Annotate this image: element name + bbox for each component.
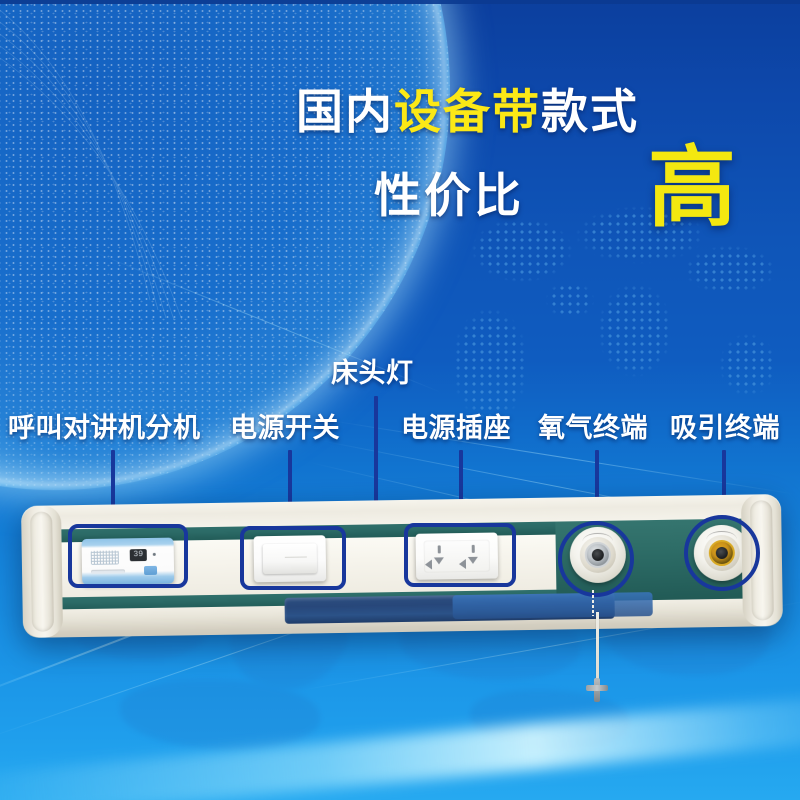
- bed-lamp-pull-cord[interactable]: [596, 612, 599, 684]
- highlight-box-intercom: [68, 524, 188, 588]
- promo-banner: 国内设备带款式 性价比 高 呼叫对讲机分机 电源开关 床头灯 电源插座 氧气终端…: [0, 0, 800, 800]
- callout-label-power-socket: 电源插座: [401, 415, 511, 442]
- decorative-thin-lines: [0, 0, 300, 320]
- top-edge-line: [0, 0, 800, 4]
- callout-label-oxygen: 氧气终端: [538, 415, 648, 442]
- highlight-box-power-switch: [240, 526, 346, 590]
- callout-label-intercom: 呼叫对讲机分机: [8, 415, 201, 442]
- end-cap-inner-left: [30, 511, 54, 631]
- title-part-3: 款式: [541, 85, 639, 138]
- callout-label-bed-lamp: 床头灯: [331, 360, 414, 387]
- callout-label-suction: 吸引终端: [670, 415, 780, 442]
- emphasis-word: 高: [648, 144, 736, 232]
- panel-slide-rail-highlight: [452, 592, 652, 619]
- highlight-circle-oxygen: [558, 521, 634, 597]
- cord-seam: [592, 590, 594, 616]
- pull-cord-handle[interactable]: [586, 678, 608, 702]
- highlight-circle-suction: [684, 515, 760, 591]
- page-title: 国内设备带款式: [296, 88, 639, 135]
- title-part-1: 国内: [296, 85, 394, 138]
- subtitle: 性价比: [374, 172, 524, 219]
- highlight-box-power-socket: [404, 523, 516, 587]
- pull-cord-handle-horizontal: [586, 685, 608, 691]
- callout-label-power-switch: 电源开关: [230, 415, 340, 442]
- title-part-2-highlight: 设备带: [394, 85, 541, 138]
- panel-end-cap-left: [21, 505, 63, 638]
